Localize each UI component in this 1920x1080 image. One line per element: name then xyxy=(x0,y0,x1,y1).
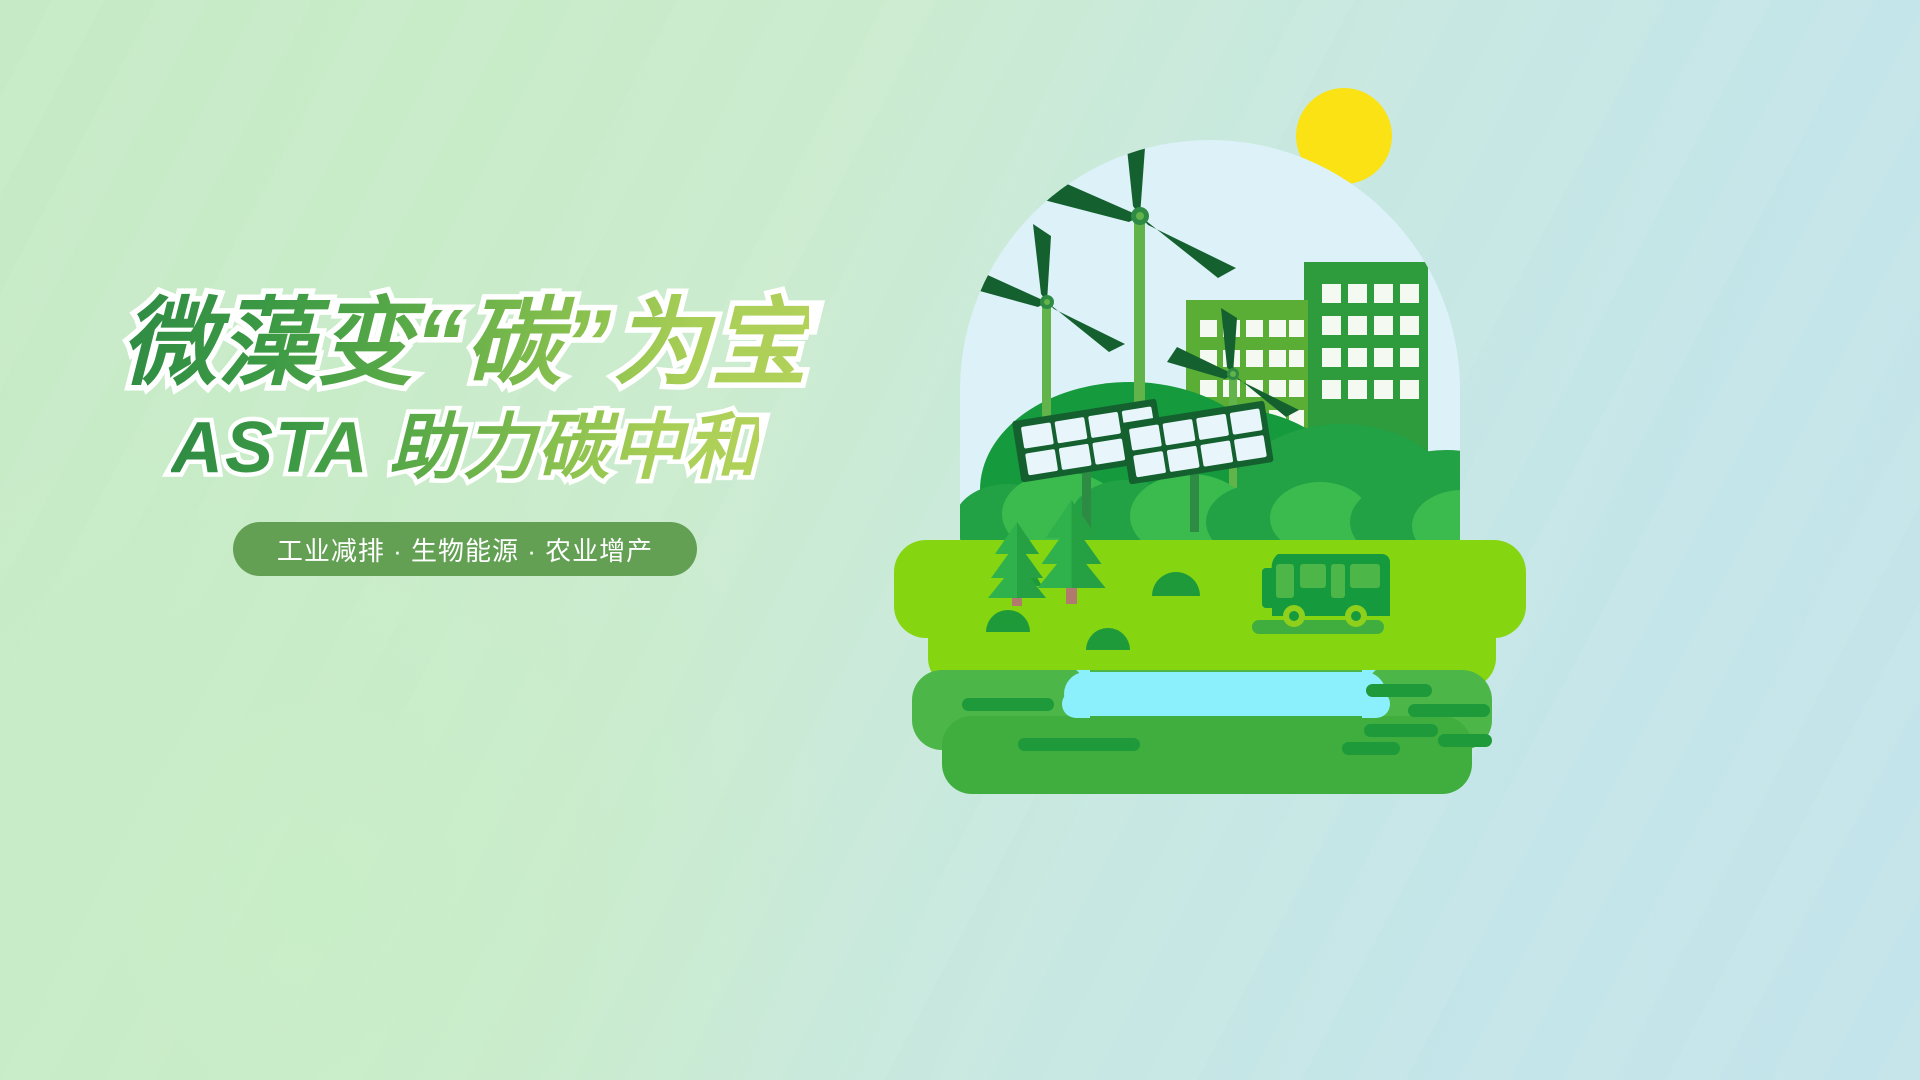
headline-line-1: 微藻变“碳”为宝 微藻变“碳”为宝 xyxy=(0,296,930,392)
headline-line-2-text: ASTA 助力碳中和 xyxy=(171,408,759,488)
eco-banner: 微藻变“碳”为宝 微藻变“碳”为宝 ASTA 助力碳中和 ASTA 助力碳中和 … xyxy=(0,0,1920,1080)
headline-line-2-row: ASTA 助力碳中和 ASTA 助力碳中和 xyxy=(0,412,930,484)
bus xyxy=(1252,554,1390,634)
tagline-pill: 工业减排 · 生物能源 · 农业增产 xyxy=(233,522,697,576)
lake xyxy=(1062,670,1390,718)
headline-line-2: ASTA 助力碳中和 ASTA 助力碳中和 xyxy=(0,412,930,484)
ground-layers xyxy=(894,540,1526,794)
eco-city-illustration xyxy=(890,70,1530,670)
headline-line-1-text: 微藻变“碳”为宝 xyxy=(121,290,809,397)
tagline-row: 工业减排 · 生物能源 · 农业增产 xyxy=(0,522,930,576)
headline-block: 微藻变“碳”为宝 微藻变“碳”为宝 ASTA 助力碳中和 ASTA 助力碳中和 … xyxy=(0,296,930,576)
